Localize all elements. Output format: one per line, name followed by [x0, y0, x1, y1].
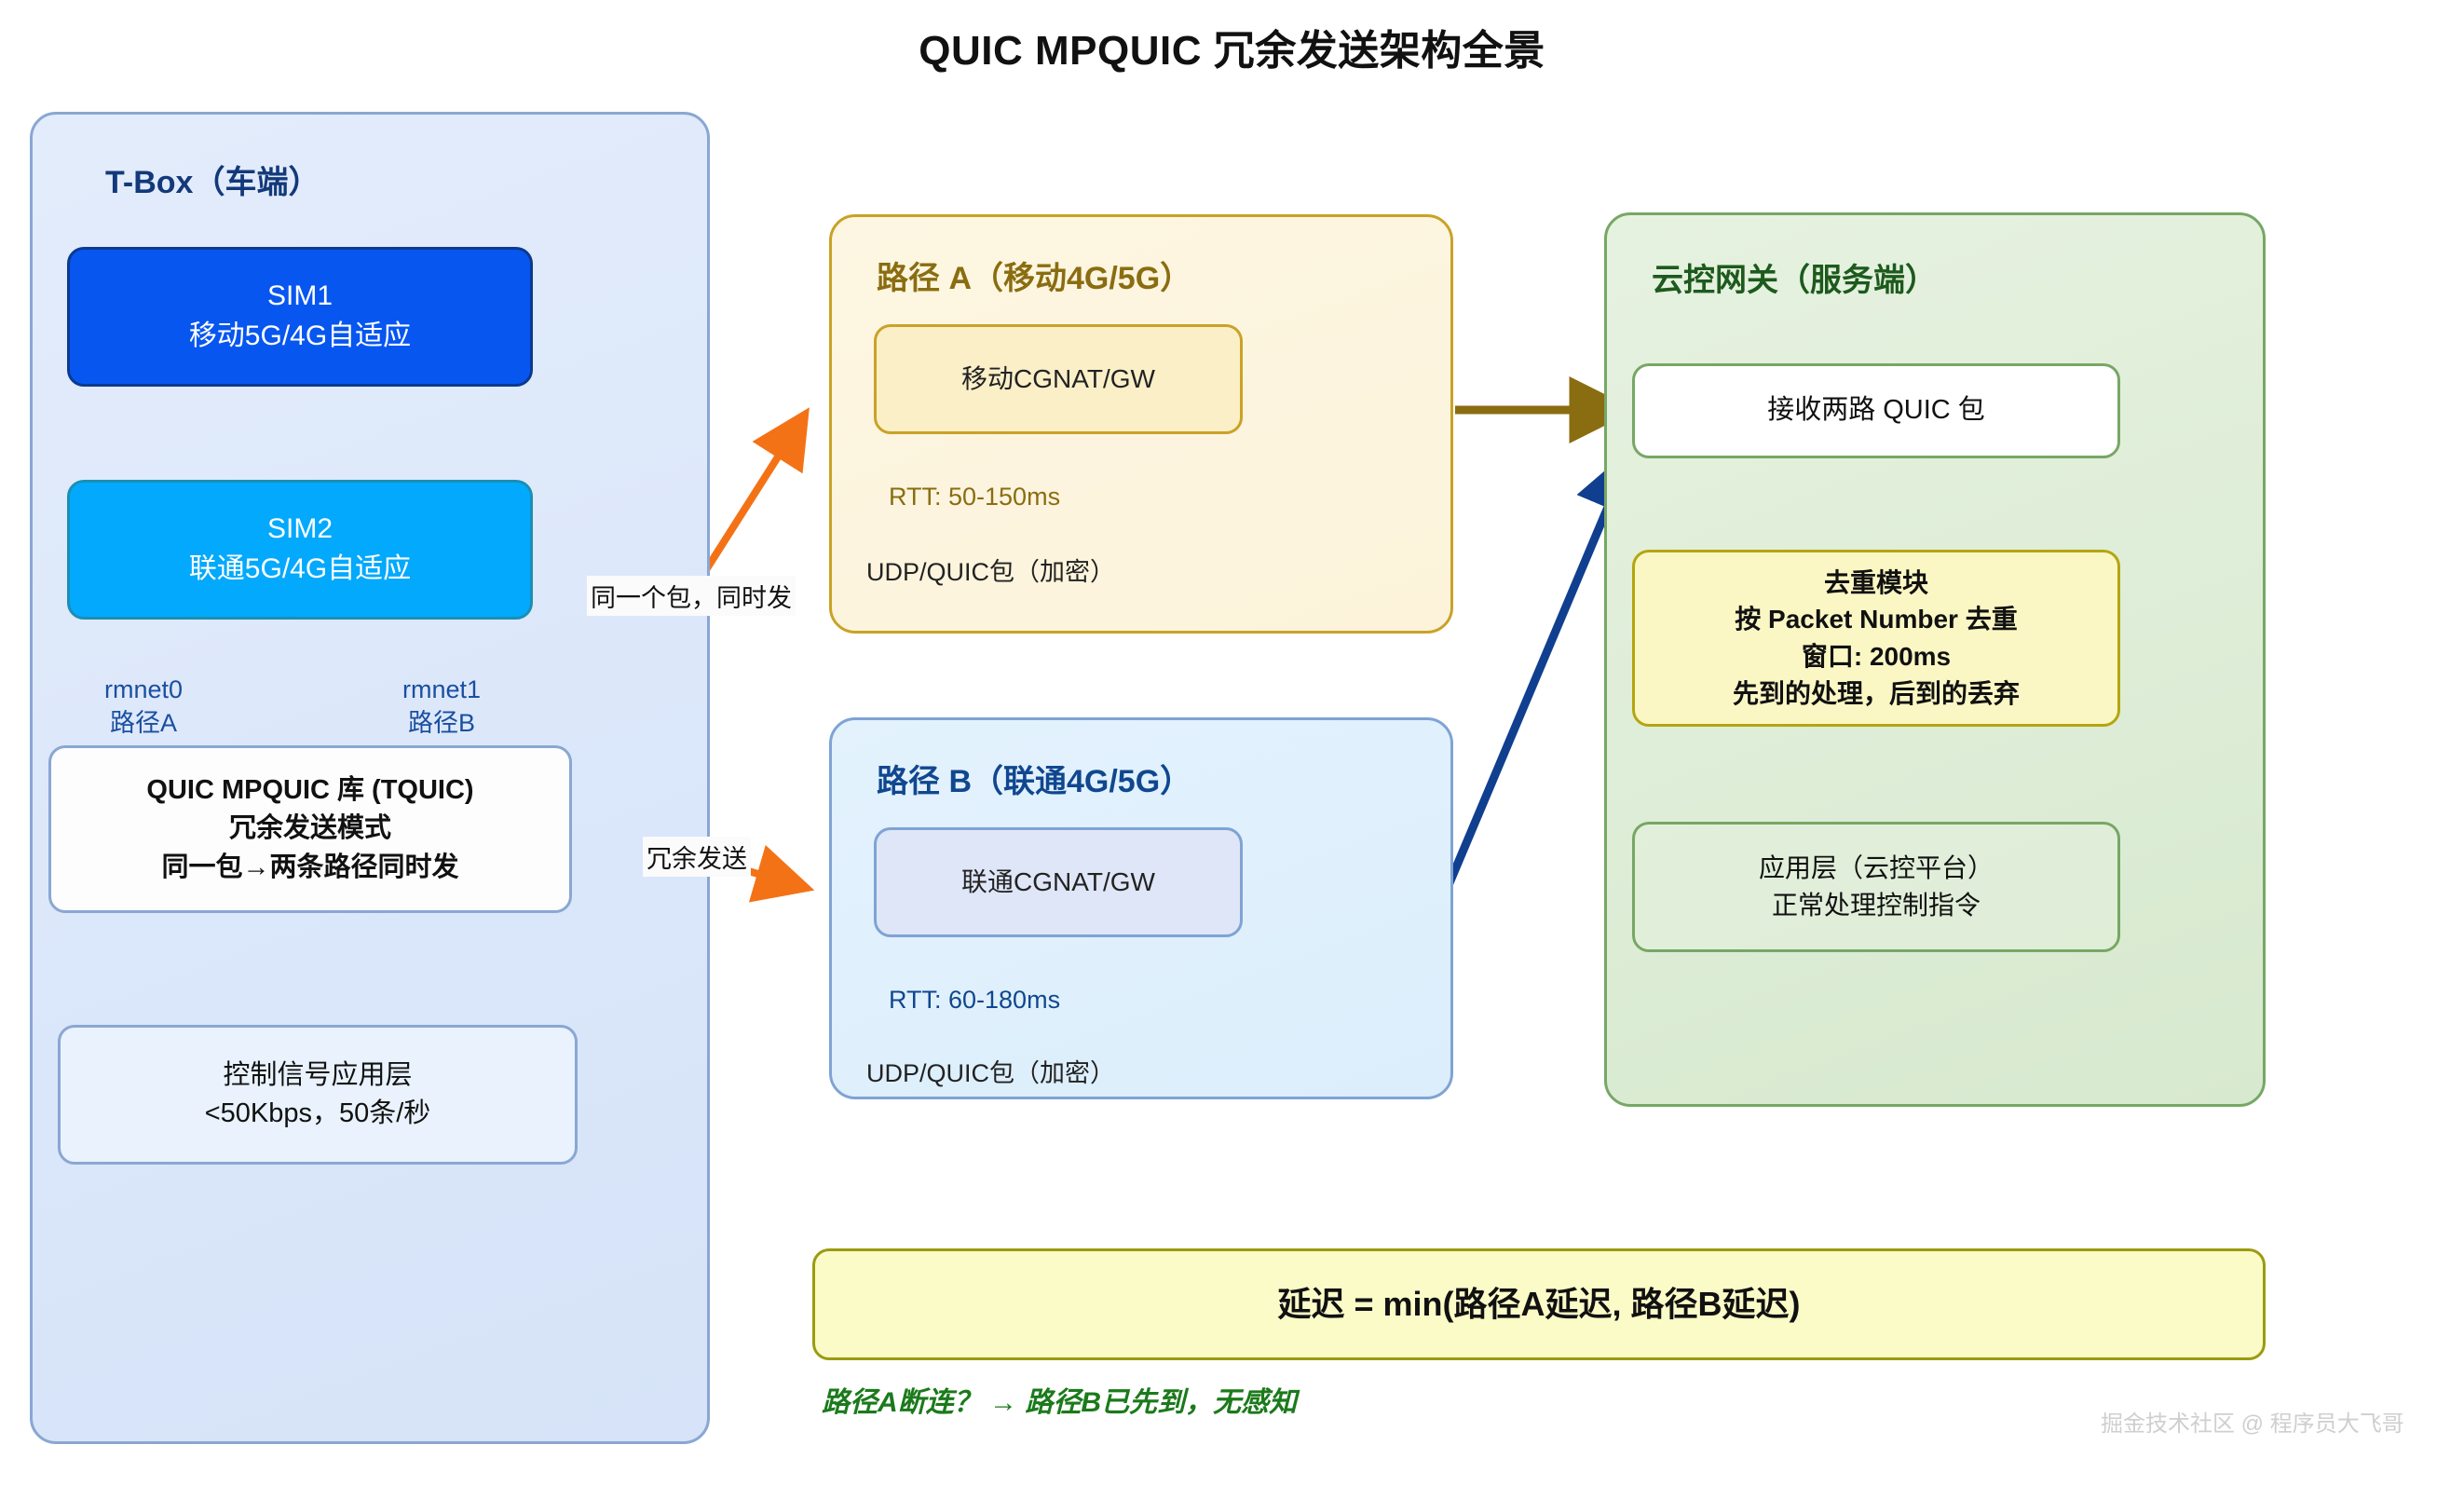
group-tbox-title: T-Box（车端） [105, 157, 320, 202]
path-a-udp: UDP/QUIC包（加密） [866, 552, 1115, 588]
path-a-rtt: RTT: 50-150ms [889, 483, 1060, 511]
node-tquic-line3: 同一包→两条路径同时发 [161, 849, 458, 887]
latency-formula-text: 延迟 = min(路径A延迟, 路径B延迟) [1277, 1280, 1800, 1328]
node-tquic-line1: QUIC MPQUIC 库 (TQUIC) [146, 771, 473, 810]
watermark: 掘金技术社区 @ 程序员大飞哥 [2101, 1405, 2404, 1438]
node-dedup-line2: 按 Packet Number 去重 [1735, 601, 2017, 638]
node-app-layer[interactable]: 应用层（云控平台） 正常处理控制指令 [1632, 822, 2120, 952]
page-title: QUIC MPQUIC 冗余发送架构全景 [0, 17, 2464, 76]
node-app-line1: 应用层（云控平台） [1759, 850, 1994, 887]
node-receive-quic[interactable]: 接收两路 QUIC 包 [1632, 363, 2120, 458]
node-sim1[interactable]: SIM1 移动5G/4G自适应 [67, 247, 533, 387]
node-cgnat-mobile-label: 移动CGNAT/GW [961, 361, 1155, 398]
node-control-line2: <50Kbps，50条/秒 [205, 1095, 431, 1133]
group-path-a-title: 路径 A（移动4G/5G） [877, 252, 1191, 298]
node-dedup-module[interactable]: 去重模块 按 Packet Number 去重 窗口: 200ms 先到的处理，… [1632, 550, 2120, 727]
label-rmnet0-line1: rmnet0 [104, 673, 183, 706]
group-cloud-title: 云控网关（服务端） [1652, 254, 1937, 300]
path-b-rtt: RTT: 60-180ms [889, 986, 1060, 1015]
node-control-line1: 控制信号应用层 [223, 1057, 412, 1095]
node-cgnat-unicom-label: 联通CGNAT/GW [961, 864, 1155, 901]
node-latency-formula: 延迟 = min(路径A延迟, 路径B延迟) [812, 1248, 2266, 1360]
label-same-packet: 同一个包，同时发 [587, 576, 796, 616]
node-cgnat-mobile[interactable]: 移动CGNAT/GW [874, 324, 1243, 434]
label-rmnet1-line1: rmnet1 [402, 673, 481, 706]
node-tquic-library[interactable]: QUIC MPQUIC 库 (TQUIC) 冗余发送模式 同一包→两条路径同时发 [48, 745, 572, 913]
node-sim2[interactable]: SIM2 联通5G/4G自适应 [67, 480, 533, 620]
node-tquic-line2: 冗余发送模式 [229, 810, 391, 848]
node-app-line2: 正常处理控制指令 [1772, 887, 1981, 924]
failover-note: 路径A断连？ → 路径B已先到，无感知 [822, 1379, 1297, 1420]
node-receive-label: 接收两路 QUIC 包 [1767, 391, 1985, 429]
node-dedup-line4: 先到的处理，后到的丢弃 [1733, 675, 2020, 713]
node-sim2-line2: 联通5G/4G自适应 [189, 550, 411, 590]
label-rmnet1-line2: 路径B [402, 706, 481, 740]
node-cgnat-unicom[interactable]: 联通CGNAT/GW [874, 827, 1243, 937]
node-sim1-line2: 移动5G/4G自适应 [189, 317, 411, 357]
group-path-b-title: 路径 B（联通4G/5G） [877, 756, 1191, 801]
path-b-udp: UDP/QUIC包（加密） [866, 1053, 1115, 1089]
node-sim1-line1: SIM1 [267, 277, 333, 317]
node-dedup-line1: 去重模块 [1824, 565, 1928, 602]
label-rmnet0: rmnet0 路径A [104, 673, 183, 741]
label-rmnet1: rmnet1 路径B [402, 673, 481, 741]
node-control-signal-app[interactable]: 控制信号应用层 <50Kbps，50条/秒 [58, 1025, 578, 1165]
node-dedup-line3: 窗口: 200ms [1802, 638, 1951, 675]
diagram-canvas: QUIC MPQUIC 冗余发送架构全景 [0, 0, 2464, 1486]
node-sim2-line1: SIM2 [267, 510, 333, 550]
label-redundant-send: 冗余发送 [643, 837, 751, 877]
edge-path-b-to-receive [1429, 458, 1628, 932]
label-rmnet0-line2: 路径A [104, 706, 183, 740]
